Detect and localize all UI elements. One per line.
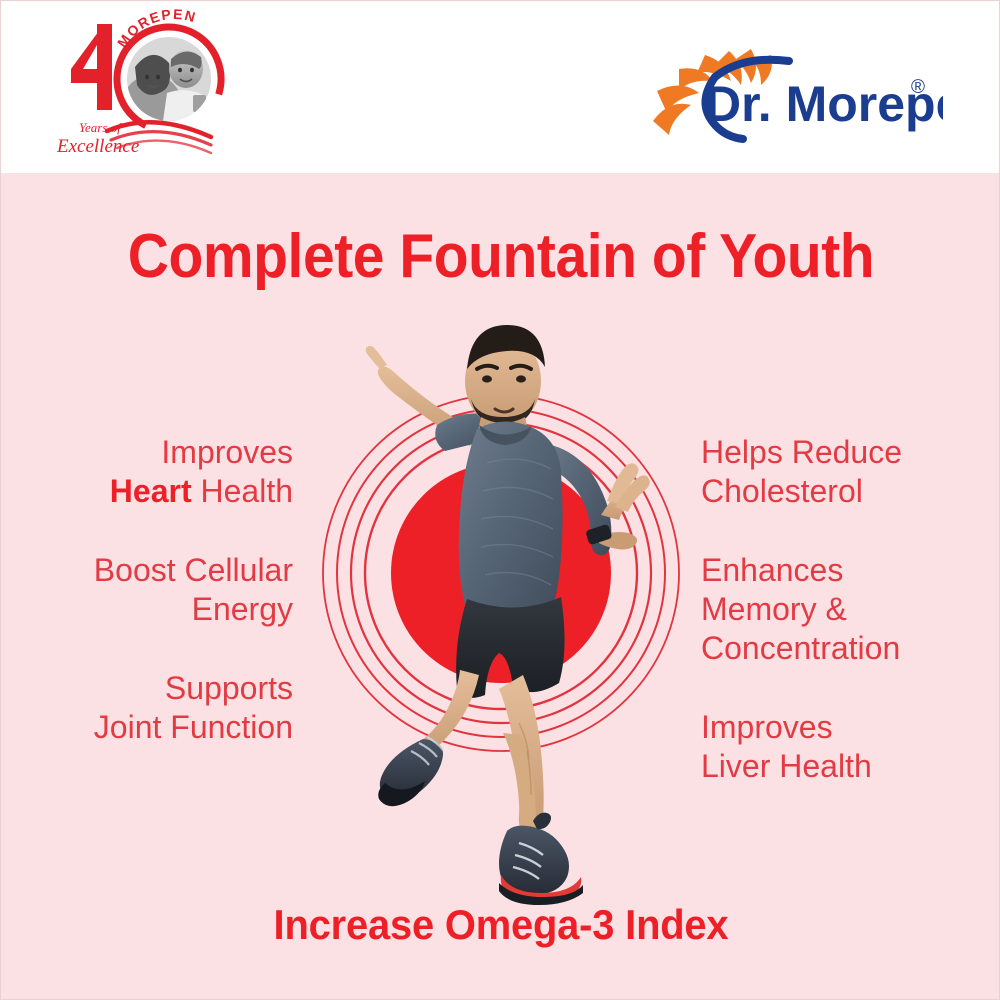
center-graphic (301, 303, 701, 943)
anniversary-40-years-logo: MOREPEN Years of Excellence (49, 9, 229, 165)
years-of-label: Years of (79, 120, 123, 135)
benefit-enhances-memory-concentration: Enhances Memory & Concentration (701, 551, 951, 668)
header-band: MOREPEN Years of Excellence (1, 1, 1000, 173)
excellence-label: Excellence (56, 136, 139, 157)
benefits-column-right: Helps Reduce Cholesterol Enhances Memory… (701, 433, 951, 786)
benefit-line: Helps Reduce (701, 434, 902, 470)
wordmark: Dr. Morepen (705, 76, 943, 132)
benefit-line: Improves (701, 709, 833, 745)
benefit-line: Liver Health (701, 748, 872, 784)
benefit-line: Concentration (701, 630, 900, 666)
benefit-line: Cholesterol (701, 473, 863, 509)
benefit-line: Joint Function (94, 709, 293, 745)
benefit-line: Energy (192, 591, 293, 627)
page-title: Complete Fountain of Youth (41, 221, 961, 292)
promo-poster: MOREPEN Years of Excellence (0, 0, 1000, 1000)
dr-morepen-logo: Dr. Morepen ® (643, 43, 943, 147)
running-athlete-illustration (281, 303, 721, 943)
benefit-improves-heart-health: Improves Heart Health (43, 433, 293, 511)
benefit-emphasis: Heart (110, 473, 192, 509)
poster-body: Complete Fountain of Youth (1, 173, 1000, 1000)
benefit-line: Supports (165, 670, 293, 706)
benefit-boost-cellular-energy: Boost Cellular Energy (43, 551, 293, 629)
benefit-supports-joint-function: Supports Joint Function (43, 669, 293, 747)
benefit-helps-reduce-cholesterol: Helps Reduce Cholesterol (701, 433, 951, 511)
benefit-line: Improves (161, 434, 293, 470)
benefit-line: Memory & (701, 591, 847, 627)
benefit-improves-liver-health: Improves Liver Health (701, 708, 951, 786)
benefit-line: Health (192, 473, 293, 509)
footer-tagline: Increase Omega-3 Index (26, 901, 976, 949)
benefits-column-left: Improves Heart Health Boost Cellular Ene… (43, 433, 293, 747)
benefit-line: Boost Cellular (94, 552, 293, 588)
registered-mark: ® (911, 77, 925, 98)
benefit-line: Enhances (701, 552, 843, 588)
